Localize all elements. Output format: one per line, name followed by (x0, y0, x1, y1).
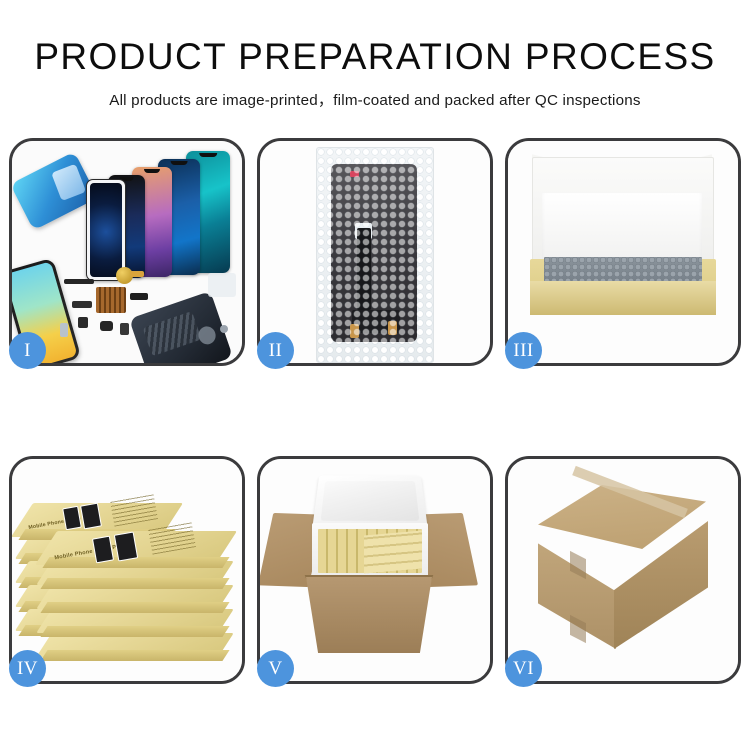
carton-body (302, 577, 436, 653)
flex-cable-icon (130, 271, 144, 277)
part-strip-icon (64, 279, 94, 284)
step-badge-5: V (257, 650, 294, 687)
step-badge-2: II (257, 332, 294, 369)
notch-icon (144, 169, 160, 173)
step-panel-5: V (257, 456, 493, 684)
step-image-6 (508, 459, 738, 681)
notch-icon (171, 161, 188, 165)
step-badge-3: III (505, 332, 542, 369)
step-image-3 (508, 141, 738, 363)
step-panel-2: II (257, 138, 493, 366)
foam-lid (312, 475, 427, 527)
step-image-4: Mobile Phone Spare Parts Mobile Phone Sp… (12, 459, 242, 681)
phone-backshell-icon (129, 291, 233, 363)
bubble-overlay (317, 148, 433, 362)
header: PRODUCT PREPARATION PROCESS All products… (0, 0, 750, 110)
page-subtitle: All products are image-printed，film-coat… (0, 88, 750, 110)
yellow-box-front (530, 281, 716, 315)
part-icon-b (72, 301, 92, 308)
part-icon-a (130, 293, 148, 300)
part-icon-c (78, 317, 88, 328)
hand-tool-icon (208, 273, 236, 297)
foam-sheet (542, 193, 702, 263)
step-image-2 (260, 141, 490, 363)
step-image-5 (260, 459, 490, 681)
phone-icon-5 (86, 179, 126, 281)
product-preparation-infographic: PRODUCT PREPARATION PROCESS All products… (0, 0, 750, 750)
step-badge-6: VI (505, 650, 542, 687)
screw-grid-icon (96, 287, 126, 313)
step-panel-4: Mobile Phone Spare Parts Mobile Phone Sp… (9, 456, 245, 684)
part-icon-d (100, 321, 113, 331)
step-badge-1: I (9, 332, 46, 369)
bubble-wrap-bag (316, 147, 434, 363)
steps-grid: I II (9, 138, 741, 684)
packed-yellow-boxes-2 (364, 530, 422, 573)
step-panel-6: VI (505, 456, 741, 684)
screw-icon (220, 325, 228, 333)
box-print-screen (80, 503, 102, 530)
step-panel-1: I (9, 138, 245, 366)
step-badge-4: IV (9, 650, 46, 687)
part-icon-e (120, 323, 129, 335)
phone-fan-group (74, 149, 242, 289)
notch-icon (199, 153, 217, 157)
step-panel-3: III (505, 138, 741, 366)
part-icon-f (60, 323, 68, 337)
step-image-1 (12, 141, 242, 363)
page-title: PRODUCT PREPARATION PROCESS (0, 38, 750, 75)
box-stack: Mobile Phone Spare Parts Mobile Phone Sp… (16, 475, 240, 675)
